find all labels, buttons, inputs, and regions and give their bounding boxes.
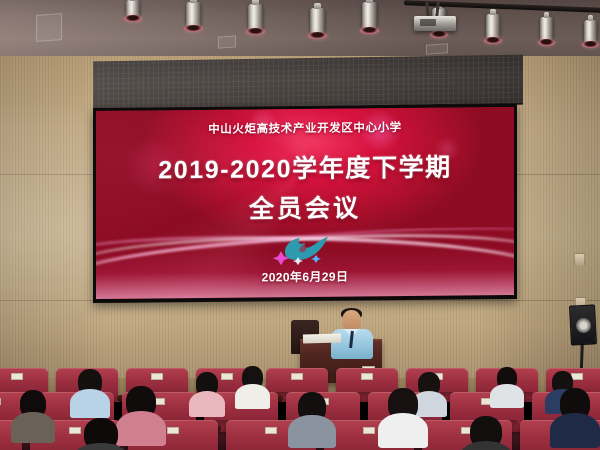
slide-date: 2020年6月29日	[262, 268, 349, 286]
seat-number-tag	[167, 427, 179, 434]
seat-number-tag	[361, 373, 373, 380]
person-shoulders	[11, 412, 55, 443]
seat-number-tag	[221, 373, 233, 380]
seat-number-tag	[291, 373, 303, 380]
audience-member	[20, 390, 46, 418]
ceiling-vent	[36, 13, 62, 42]
auditorium-photo: 中山火炬高技术产业开发区中心小学 2019-2020学年度下学期 全员会议 20…	[0, 0, 600, 450]
person-shoulders	[378, 413, 428, 448]
audience-member	[470, 416, 502, 448]
audience-member	[126, 386, 156, 418]
acoustic-panel-band	[93, 55, 523, 112]
ceiling-vent	[218, 35, 236, 48]
person-shoulders	[288, 415, 335, 448]
torch-flame-logo	[272, 232, 338, 267]
audience-member	[560, 388, 590, 420]
seat-number-tag	[265, 427, 277, 434]
person-shoulders	[116, 411, 166, 446]
audience-member	[196, 372, 218, 396]
ceiling-vent	[426, 43, 448, 55]
ceiling-spotlight	[362, 2, 377, 30]
seat-number-tag	[151, 373, 163, 380]
seat-number-tag	[69, 427, 81, 434]
person-shoulders	[235, 384, 270, 409]
slide-title-line1: 2019-2020学年度下学期	[158, 148, 452, 187]
wall-socket-plate	[574, 253, 585, 266]
audience-member	[242, 366, 263, 389]
person-shoulders	[189, 391, 226, 417]
audience-member	[418, 372, 440, 396]
slide-title-line2: 全员会议	[249, 188, 361, 225]
ceiling-spotlight	[186, 2, 201, 28]
person-shoulders	[550, 413, 600, 448]
led-display: 中山火炬高技术产业开发区中心小学 2019-2020学年度下学期 全员会议 20…	[96, 107, 514, 299]
pa-speaker	[569, 304, 597, 345]
ceiling-spotlight	[248, 4, 263, 31]
person-shoulders	[490, 384, 524, 408]
podium-papers	[303, 334, 341, 344]
led-display-frame: 中山火炬高技术产业开发区中心小学 2019-2020学年度下学期 全员会议 20…	[93, 104, 517, 303]
seat-number-tag	[0, 398, 1, 405]
seat-number-tag	[11, 373, 23, 380]
audience-member	[84, 418, 118, 450]
presenter-head	[342, 310, 361, 331]
ceiling-spotlight	[540, 17, 553, 42]
seat-number-tag	[363, 427, 375, 434]
slide-school-name: 中山火炬高技术产业开发区中心小学	[208, 119, 402, 137]
audience-member	[78, 369, 102, 395]
ceiling	[0, 0, 600, 62]
ceiling-spotlight	[126, 0, 140, 18]
ceiling-spotlight	[486, 14, 500, 40]
person-shoulders	[70, 389, 110, 418]
ceiling-spotlight	[310, 8, 325, 35]
audience-member	[388, 388, 418, 420]
audience-member	[298, 392, 326, 422]
audience-member	[497, 367, 517, 389]
ceiling-spotlight	[584, 20, 597, 44]
ceiling-projector	[414, 16, 456, 31]
